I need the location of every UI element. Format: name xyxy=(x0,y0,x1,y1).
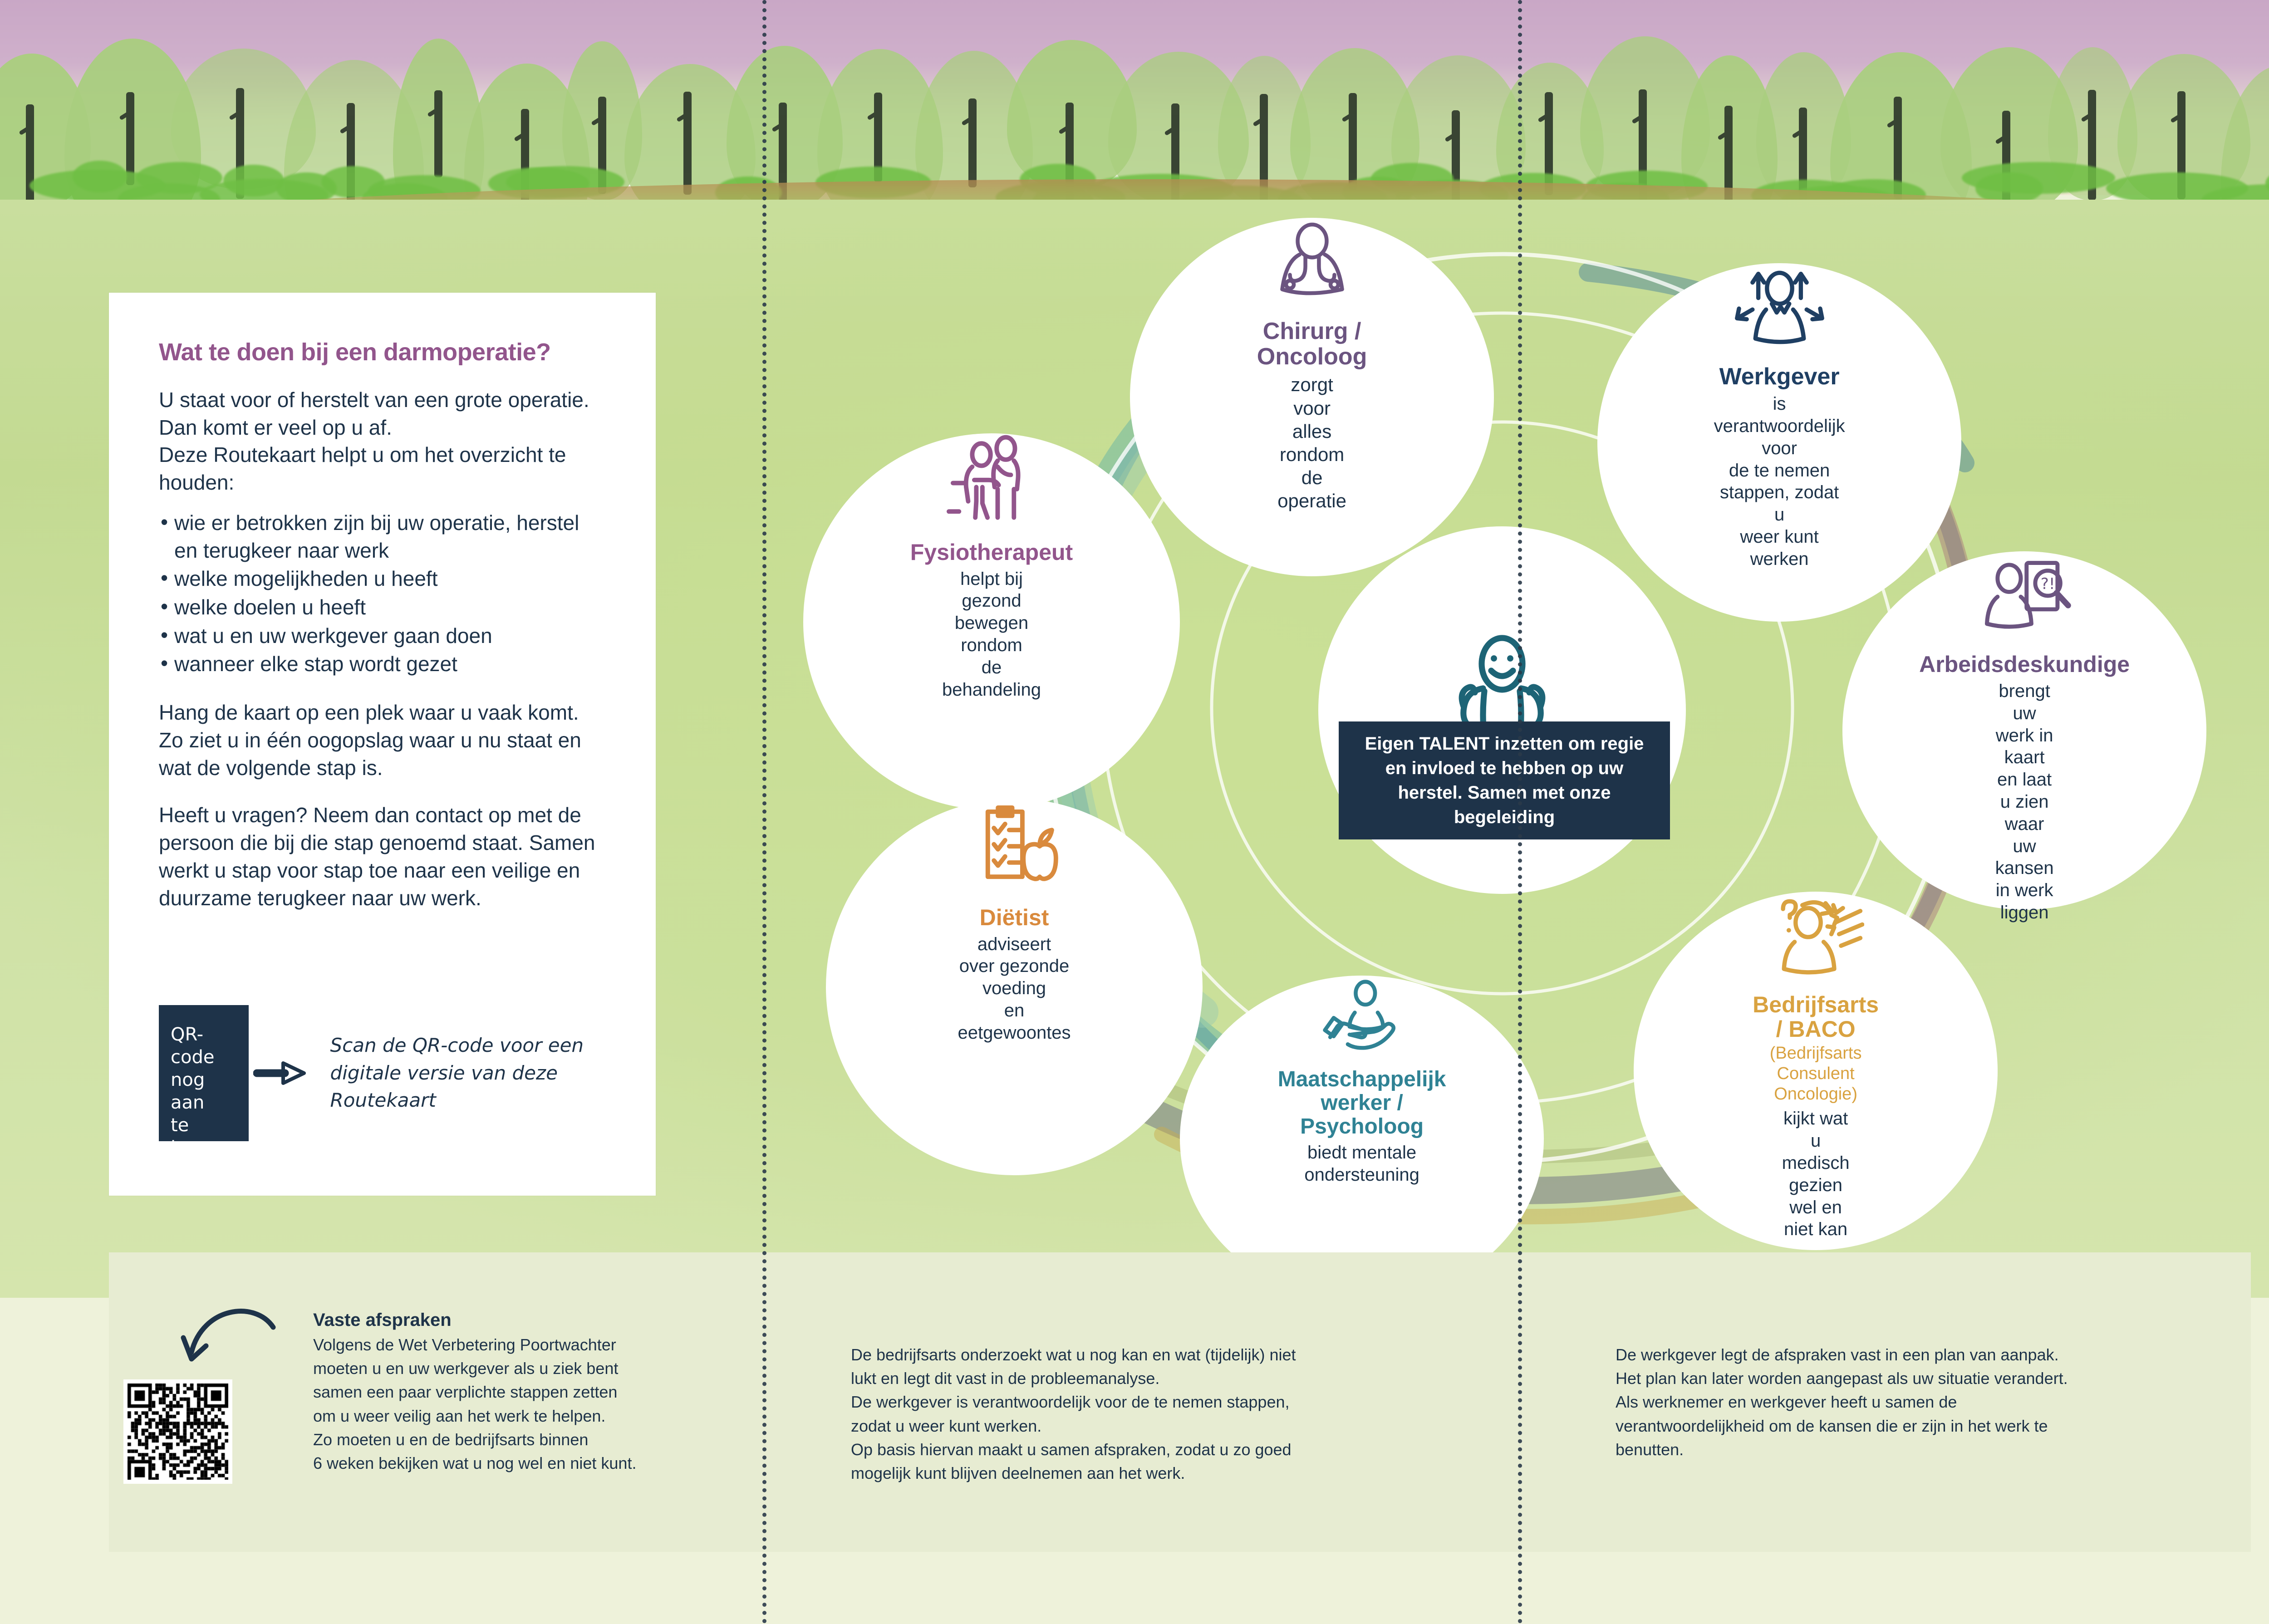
fold-line-2 xyxy=(1518,0,1522,1624)
bottom-col3-line: De werkgever legt de afspraken vast in e… xyxy=(1616,1345,2059,1364)
bottom-col3-line: benutten. xyxy=(1616,1440,1684,1459)
intro-line-1: U staat voor of herstelt van een grote o… xyxy=(159,386,606,414)
bottom-col1-line: moeten u en uw werkgever als u ziek bent xyxy=(313,1359,618,1378)
role-bubble-description: brengt uw werk in kaarten laat u zien wa… xyxy=(1995,680,2054,924)
bottom-col1-line: samen een paar verplichte stappen zetten xyxy=(313,1383,617,1401)
bottom-col2-line: De werkgever is verantwoordelijk voor de… xyxy=(851,1393,1290,1411)
bottom-col2-line: zodat u weer kunt werken. xyxy=(851,1417,1041,1435)
clipboard-apple-icon xyxy=(963,800,1065,903)
qr-placeholder-group: QR-code nog aan te leveren Scan de QR-co… xyxy=(159,1005,656,1141)
bottom-col2-line: Op basis hiervan maakt u samen afspraken… xyxy=(851,1440,1292,1459)
qr-placeholder-line-2: nog aan xyxy=(171,1069,239,1114)
bottom-col1-line: Zo moeten u en de bedrijfsarts binnen xyxy=(313,1430,588,1449)
bottom-column-1-heading: Vaste afspraken xyxy=(313,1310,452,1330)
list-item: wat u en uw werkgever gaan doen xyxy=(159,622,606,650)
person-question-rays-icon xyxy=(1768,892,1864,991)
intro-paragraph-3: Heeft u vragen? Neem dan contact op met … xyxy=(159,801,606,912)
role-bubble-title: Werkgever xyxy=(1719,364,1840,389)
fold-line-1 xyxy=(762,0,766,1624)
role-bubble-subtitle: (Bedrijfsarts Consulent Oncologie) xyxy=(1770,1043,1862,1104)
physio-two-people-icon xyxy=(941,434,1042,538)
brochure-page: Wat te doen bij een darmoperatie? U staa… xyxy=(0,0,2269,1624)
qr-code[interactable] xyxy=(123,1379,232,1484)
talent-statement-box: Eigen TALENT inzetten om regie en invloe… xyxy=(1339,721,1670,839)
hand-holding-person-icon xyxy=(1318,976,1406,1066)
role-bubble-description: zorgt voor allesrondom de operatie xyxy=(1277,373,1346,512)
bottom-col1-line: om u weer veilig aan het werk te helpen. xyxy=(313,1407,605,1425)
person-magnifier-document-icon: ?! xyxy=(1976,551,2073,650)
role-bubble-title: Arbeidsdeskundige xyxy=(1919,652,2130,677)
role-bubble-title: Fysiotherapeut xyxy=(910,540,1073,564)
role-bubble-arbeidsdeskundige: ?!Arbeidsdeskundigebrengt uw werk in kaa… xyxy=(1842,551,2206,910)
bottom-col2-line: De bedrijfsarts onderzoekt wat u nog kan… xyxy=(851,1345,1296,1364)
role-bubble-fysiotherapeut: Fysiotherapeuthelpt bij gezond bewegen r… xyxy=(803,433,1180,810)
list-item: welke doelen u heeft xyxy=(159,594,606,621)
list-item: wanneer elke stap wordt gezet xyxy=(159,650,606,678)
list-item: wie er betrokken zijn bij uw operatie, h… xyxy=(159,509,606,564)
bottom-col3-line: verantwoordelijkheid om de kansen die er… xyxy=(1616,1417,2048,1435)
role-bubble-description: biedt mentaleondersteuning xyxy=(1304,1142,1419,1186)
bottom-column-2: De bedrijfsarts onderzoekt wat u nog kan… xyxy=(851,1343,1504,1485)
intro-bullet-list: wie er betrokken zijn bij uw operatie, h… xyxy=(159,509,606,678)
role-bubble-description: helpt bij gezond bewegen rondomde behand… xyxy=(942,568,1041,701)
bottom-col3-line: Als werknemer en werkgever heeft u samen… xyxy=(1616,1393,1957,1411)
intro-line-3: Deze Routekaart helpt u om het overzicht… xyxy=(159,441,606,496)
qr-note-text: Scan de QR-code voor een digitale versie… xyxy=(330,1032,656,1115)
role-bubble-dietist: Diëtistadviseert over gezonde voedingen … xyxy=(826,799,1203,1175)
arrow-right-icon xyxy=(253,1060,312,1087)
bottom-column-1: Vaste afspraken Volgens de Wet Verbeteri… xyxy=(313,1307,767,1475)
curved-down-arrow-icon xyxy=(178,1302,278,1384)
person-arrows-icon xyxy=(1731,263,1828,362)
svg-text:?!: ?! xyxy=(2040,575,2055,593)
bottom-col2-line: lukt en legt dit vast in de probleemanal… xyxy=(851,1369,1159,1388)
bottom-col1-line: Volgens de Wet Verbetering Poortwachter xyxy=(313,1335,616,1354)
role-bubble-title: Maatschappelijk werker / Psycholoog xyxy=(1278,1068,1446,1138)
page-title: Wat te doen bij een darmoperatie? xyxy=(159,338,606,366)
qr-placeholder-line-1: QR-code xyxy=(171,1023,239,1069)
role-bubble-title: Bedrijfsarts / BACO xyxy=(1753,992,1879,1041)
role-bubble-title: Chirurg / Oncoloog xyxy=(1257,319,1367,369)
bottom-col1-line: 6 weken bekijken wat u nog wel en niet k… xyxy=(313,1454,636,1472)
intro-paragraph-2: Hang de kaart op een plek waar u vaak ko… xyxy=(159,699,606,781)
role-bubble-werkgever: Werkgeveris verantwoordelijk voorde te n… xyxy=(1597,263,1961,622)
intro-line-2: Dan komt er veel op u af. xyxy=(159,414,606,442)
intro-card: Wat te doen bij een darmoperatie? U staa… xyxy=(109,293,656,1196)
doctor-stethoscope-icon xyxy=(1264,218,1360,317)
qr-placeholder-line-3: te leveren xyxy=(171,1114,239,1159)
qr-placeholder-box: QR-code nog aan te leveren xyxy=(159,1005,249,1141)
role-bubble-description: kijkt wat u medisch gezienwel en niet ka… xyxy=(1782,1108,1850,1241)
role-bubble-chirurg: Chirurg / Oncoloogzorgt voor allesrondom… xyxy=(1130,218,1494,576)
role-bubble-bedrijfsarts: Bedrijfsarts / BACO(Bedrijfsarts Consule… xyxy=(1634,892,1998,1250)
role-bubble-title: Diëtist xyxy=(980,905,1049,930)
bottom-col3-line: Het plan kan later worden aangepast als … xyxy=(1616,1369,2068,1388)
list-item: welke mogelijkheden u heeft xyxy=(159,565,606,593)
bottom-column-3: De werkgever legt de afspraken vast in e… xyxy=(1616,1343,2224,1462)
role-bubble-description: is verantwoordelijk voorde te nemen stap… xyxy=(1714,393,1845,570)
bottom-col2-line: mogelijk kunt blijven deelnemen aan het … xyxy=(851,1464,1185,1482)
role-bubble-description: adviseert over gezonde voedingen eetgewo… xyxy=(958,933,1071,1044)
